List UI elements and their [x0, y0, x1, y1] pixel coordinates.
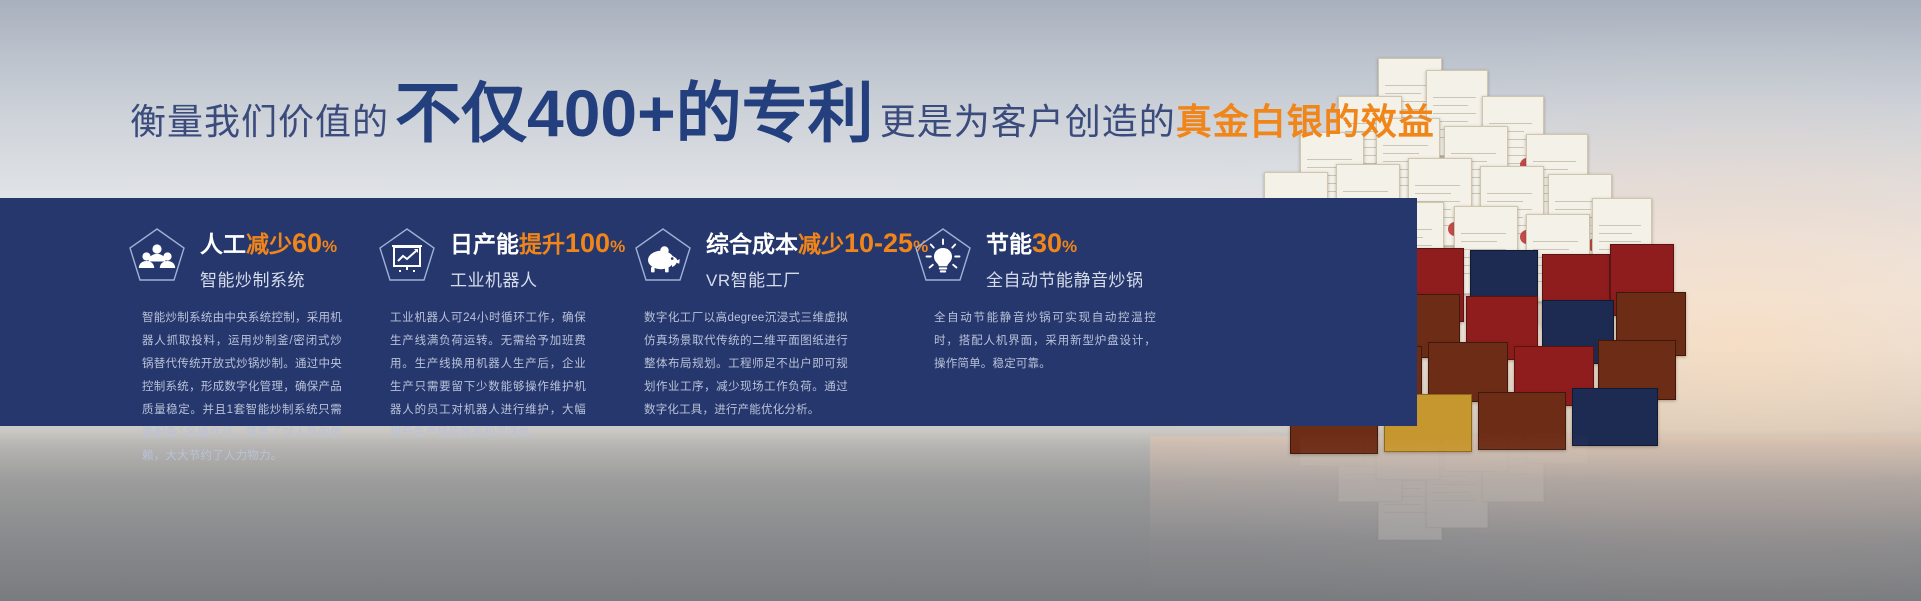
- certificate-text-line: [1487, 193, 1532, 194]
- feature-title-unit: %: [610, 237, 625, 256]
- certificate-text-line: [1461, 233, 1506, 234]
- feature-list: 人工减少60% 智能炒制系统 智能炒制系统由中央系统控制，采用机器人抓取投料，运…: [0, 198, 1417, 426]
- certificate-text-line: [1433, 113, 1476, 114]
- headline-lead: 衡量我们价值的: [130, 104, 389, 140]
- feature-header: 日产能提升100% 工业机器人: [378, 225, 624, 291]
- certificate-text-line: [1461, 241, 1497, 242]
- certificate-item: [1478, 392, 1566, 450]
- feature-item-energy[interactable]: 节能30% 全自动节能静音炒锅 全自动节能静音炒锅可实现自动控温控时，搭配人机界…: [894, 198, 1194, 426]
- feature-item-capacity[interactable]: 日产能提升100% 工业机器人 工业机器人可24小时循环工作，确保生产线满负荷运…: [366, 198, 624, 426]
- chart-board-icon: [378, 227, 436, 289]
- certificate-text-line: [1307, 159, 1352, 160]
- feature-title: 节能30%: [986, 229, 1144, 259]
- light-bulb-icon: [914, 227, 972, 289]
- feature-titles: 日产能提升100% 工业机器人: [450, 225, 625, 291]
- certificate-text-line: [1599, 241, 1641, 242]
- feature-title-plain: 综合成本: [706, 231, 798, 257]
- feature-header: 综合成本减少10-25% VR智能工厂: [634, 225, 894, 291]
- feature-subtitle: 智能炒制系统: [200, 266, 337, 291]
- feature-header: 人工减少60% 智能炒制系统: [128, 225, 366, 291]
- feature-body: 全自动节能静音炒锅可实现自动控温控时，搭配人机界面，采用新型炉盘设计，操作简单。…: [934, 307, 1156, 376]
- certificate-text-line: [1599, 233, 1633, 234]
- certificate-text-line: [1489, 123, 1532, 124]
- page-headline: 衡量我们价值的 不仅400+的专利 更是为客户创造的 真金白银的效益: [130, 78, 1435, 144]
- feature-title-highlight: 减少: [246, 231, 292, 257]
- feature-body: 智能炒制系统由中央系统控制，采用机器人抓取投料，运用炒制釜/密闭式炒锅替代传统开…: [142, 307, 342, 468]
- feature-title-unit: %: [322, 237, 337, 256]
- feature-title-plain: 人工: [200, 231, 246, 257]
- certificate-text-line: [1555, 209, 1591, 210]
- feature-subtitle: 工业机器人: [450, 266, 625, 291]
- certificate-text-line: [1533, 241, 1578, 242]
- feature-item-labor[interactable]: 人工减少60% 智能炒制系统 智能炒制系统由中央系统控制，采用机器人抓取投料，运…: [0, 198, 366, 426]
- feature-title-number: 100: [565, 228, 610, 258]
- feature-header: 节能30% 全自动节能静音炒锅: [914, 225, 1194, 291]
- certificate-text-line: [1487, 201, 1523, 202]
- certificate-text-line: [1415, 193, 1451, 194]
- people-group-icon: [128, 227, 186, 289]
- certificate-text-line: [1383, 145, 1428, 146]
- headline-middle: 更是为客户创造的: [880, 104, 1176, 140]
- certificate-text-line: [1433, 97, 1476, 98]
- feature-title: 人工减少60%: [200, 229, 337, 259]
- feature-title-unit: %: [1062, 237, 1077, 256]
- feature-title-number: 30: [1032, 228, 1062, 258]
- certificate-text-line: [1343, 191, 1388, 192]
- feature-body: 数字化工厂以高degree沉浸式三维虚拟仿真场景取代传统的二维平面图纸进行整体布…: [644, 307, 848, 422]
- headline-accent: 真金白银的效益: [1176, 104, 1435, 140]
- feature-title-plain: 日产能: [450, 231, 519, 257]
- feature-titles: 节能30% 全自动节能静音炒锅: [986, 225, 1144, 291]
- headline-emphasis: 不仅400+的专利: [395, 80, 874, 146]
- banner-stage: 衡量我们价值的 不仅400+的专利 更是为客户创造的 真金白银的效益: [0, 0, 1921, 601]
- feature-title-highlight: 减少: [798, 231, 844, 257]
- feature-title-plain: 节能: [986, 231, 1032, 257]
- certificate-item: [1572, 388, 1658, 446]
- feature-body: 工业机器人可24小时循环工作，确保生产线满负荷运转。无需给予加班费用。生产线换用…: [390, 307, 586, 445]
- piggy-bank-icon: [634, 227, 692, 289]
- certificate-text-line: [1533, 249, 1569, 250]
- feature-title-highlight: 提升: [519, 231, 565, 257]
- certificate-text-line: [1599, 225, 1641, 226]
- feature-subtitle: 全自动节能静音炒锅: [986, 266, 1144, 291]
- certificate-text-line: [1533, 161, 1576, 162]
- certificate-text-line: [1433, 105, 1468, 106]
- feature-item-cost[interactable]: 综合成本减少10-25% VR智能工厂 数字化工厂以高degree沉浸式三维虚拟…: [624, 198, 894, 426]
- certificate-text-line: [1451, 153, 1496, 154]
- certificate-text-line: [1415, 185, 1460, 186]
- feature-titles: 人工减少60% 智能炒制系统: [200, 225, 337, 291]
- feature-title: 日产能提升100%: [450, 229, 625, 259]
- feature-title-number: 60: [292, 228, 322, 258]
- certificate-text-line: [1383, 153, 1419, 154]
